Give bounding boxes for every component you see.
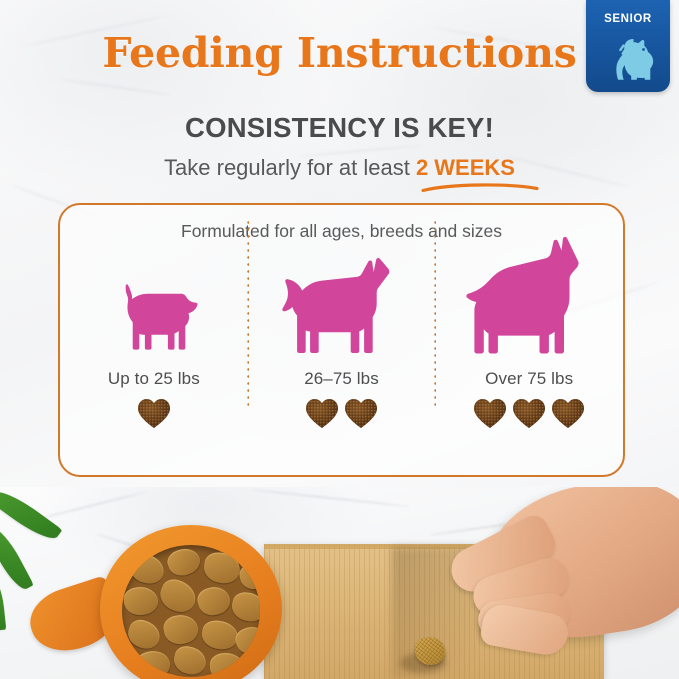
green-leaf: [0, 487, 62, 546]
page-title: Feeding Instructions: [0, 33, 679, 74]
kibble-group-medium: [305, 398, 378, 429]
green-leaf: [0, 523, 34, 594]
kibble-heart-icon: [137, 398, 171, 429]
tagline-prefix: Take regularly for at least: [164, 155, 416, 180]
hand-holding-treat: [432, 487, 679, 679]
marble-vein: [60, 78, 169, 95]
kibble-group-large: [473, 398, 585, 429]
tagline: Take regularly for at least 2 WEEKS: [0, 155, 679, 181]
kibble-group-small: [137, 398, 171, 429]
green-leaf: [0, 576, 6, 631]
size-label-large: Over 75 lbs: [485, 369, 573, 389]
tagline-highlight: 2 WEEKS: [416, 155, 515, 180]
marble-vein: [32, 491, 149, 522]
kibble-heart-icon: [305, 398, 339, 429]
size-column-medium: 26–75 lbs: [248, 249, 436, 469]
medium-dog-icon: [276, 256, 408, 361]
feeding-chart-card: Formulated for all ages, breeds and size…: [58, 203, 625, 477]
size-label-medium: 26–75 lbs: [304, 369, 379, 389]
size-column-small: Up to 25 lbs: [60, 249, 248, 469]
underline-swoosh: [421, 182, 539, 193]
large-dog-icon: [454, 236, 604, 361]
kibble-heart-icon: [344, 398, 378, 429]
feeding-instructions-graphic: SENIOR Feeding Instructions CONSISTENCY …: [0, 0, 679, 679]
small-dog-icon: [102, 282, 206, 361]
kibble-heart-icon: [512, 398, 546, 429]
kibble-heart-icon: [551, 398, 585, 429]
product-photo: [0, 487, 679, 679]
senior-badge-label: SENIOR: [586, 0, 670, 25]
size-label-small: Up to 25 lbs: [108, 369, 200, 389]
kibble-heart-icon: [473, 398, 507, 429]
size-column-large: Over 75 lbs: [435, 249, 623, 469]
size-columns: Up to 25 lbs: [60, 249, 623, 469]
marble-vein: [250, 489, 409, 508]
orange-scoop: [100, 525, 282, 679]
scoop-kibble-fill: [122, 545, 260, 677]
subtitle: CONSISTENCY IS KEY!: [0, 112, 679, 144]
